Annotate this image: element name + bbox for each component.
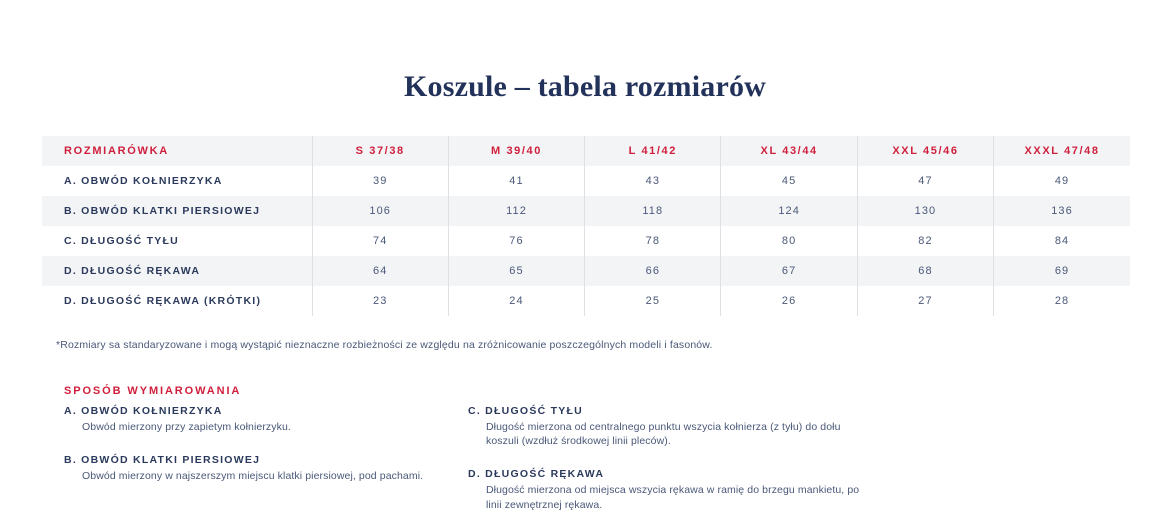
measurement-desc-sleeve: Długość mierzona od miejsca wszycia ręka… <box>468 483 872 511</box>
cell-back-xxl: 82 <box>857 226 993 256</box>
cell-sleeve-m: 65 <box>448 256 584 286</box>
size-table-footnote: *Rozmiary sa standaryzowane i mogą wystą… <box>56 339 1056 351</box>
measurement-item-collar: A. OBWÓD KOŁNIERZYKA Obwód mierzony przy… <box>64 405 468 434</box>
cell-sleeve-s: 64 <box>312 256 448 286</box>
cell-sleeve-xxxl: 69 <box>994 256 1130 286</box>
cell-sleeve-xl: 67 <box>721 256 857 286</box>
measurement-title-collar: A. OBWÓD KOŁNIERZYKA <box>64 405 468 417</box>
cell-collar-s: 39 <box>312 166 448 196</box>
measurement-item-back-length: C. DŁUGOŚĆ TYŁU Długość mierzona od cent… <box>468 405 872 448</box>
table-body: A. OBWÓD KOŁNIERZYKA 39 41 43 45 47 49 B… <box>42 166 1130 316</box>
cell-chest-m: 112 <box>448 196 584 226</box>
cell-sleeve-short-l: 25 <box>585 286 721 316</box>
row-label-sleeve-long: D. DŁUGOŚĆ RĘKAWA <box>42 256 312 286</box>
cell-sleeve-short-s: 23 <box>312 286 448 316</box>
measurement-title-chest: B. OBWÓD KLATKI PIERSIOWEJ <box>64 454 468 466</box>
row-label-collar: A. OBWÓD KOŁNIERZYKA <box>42 166 312 196</box>
cell-back-l: 78 <box>585 226 721 256</box>
measurement-desc-chest: Obwód mierzony w najszerszym miejscu kla… <box>64 469 468 483</box>
table-row: D. DŁUGOŚĆ RĘKAWA 64 65 66 67 68 69 <box>42 256 1130 286</box>
cell-back-xxxl: 84 <box>994 226 1130 256</box>
cell-sleeve-xxl: 68 <box>857 256 993 286</box>
cell-back-xl: 80 <box>721 226 857 256</box>
cell-sleeve-short-m: 24 <box>448 286 584 316</box>
measurement-desc-collar: Obwód mierzony przy zapietym kołnierzyku… <box>64 420 468 434</box>
row-label-sleeve-short: D. DŁUGOŚĆ RĘKAWA (KRÓTKI) <box>42 286 312 316</box>
cell-collar-xl: 45 <box>721 166 857 196</box>
cell-collar-xxxl: 49 <box>994 166 1130 196</box>
cell-chest-l: 118 <box>585 196 721 226</box>
cell-sleeve-l: 66 <box>585 256 721 286</box>
measurement-item-sleeve: D. DŁUGOŚĆ RĘKAWA Długość mierzona od mi… <box>468 468 872 511</box>
cell-chest-xl: 124 <box>721 196 857 226</box>
column-header-xxxl: XXXL 47/48 <box>994 136 1130 166</box>
cell-sleeve-short-xxxl: 28 <box>994 286 1130 316</box>
cell-back-s: 74 <box>312 226 448 256</box>
cell-collar-m: 41 <box>448 166 584 196</box>
cell-sleeve-short-xl: 26 <box>721 286 857 316</box>
measurement-item-chest: B. OBWÓD KLATKI PIERSIOWEJ Obwód mierzon… <box>64 454 468 483</box>
cell-chest-xxxl: 136 <box>994 196 1130 226</box>
measurement-section-heading: SPOSÓB WYMIAROWANIA <box>64 385 241 397</box>
table-row: A. OBWÓD KOŁNIERZYKA 39 41 43 45 47 49 <box>42 166 1130 196</box>
measurement-title-back-length: C. DŁUGOŚĆ TYŁU <box>468 405 872 417</box>
cell-back-m: 76 <box>448 226 584 256</box>
column-header-m: M 39/40 <box>448 136 584 166</box>
table-header: ROZMIARÓWKA S 37/38 M 39/40 L 41/42 XL 4… <box>42 136 1130 166</box>
column-header-s: S 37/38 <box>312 136 448 166</box>
table-row: C. DŁUGOŚĆ TYŁU 74 76 78 80 82 84 <box>42 226 1130 256</box>
measurement-column-left: A. OBWÓD KOŁNIERZYKA Obwód mierzony przy… <box>64 405 468 532</box>
column-header-xxl: XXL 45/46 <box>857 136 993 166</box>
column-header-l: L 41/42 <box>585 136 721 166</box>
measurement-desc-back-length: Długość mierzona od centralnego punktu w… <box>468 420 872 448</box>
cell-chest-xxl: 130 <box>857 196 993 226</box>
table-header-row: ROZMIARÓWKA S 37/38 M 39/40 L 41/42 XL 4… <box>42 136 1130 166</box>
size-chart-table: ROZMIARÓWKA S 37/38 M 39/40 L 41/42 XL 4… <box>42 136 1130 316</box>
table-row: B. OBWÓD KLATKI PIERSIOWEJ 106 112 118 1… <box>42 196 1130 226</box>
cell-collar-xxl: 47 <box>857 166 993 196</box>
measurement-instructions: A. OBWÓD KOŁNIERZYKA Obwód mierzony przy… <box>64 405 1114 532</box>
cell-collar-l: 43 <box>585 166 721 196</box>
column-header-xl: XL 43/44 <box>721 136 857 166</box>
page-title: Koszule – tabela rozmiarów <box>0 70 1170 104</box>
size-table-container: ROZMIARÓWKA S 37/38 M 39/40 L 41/42 XL 4… <box>42 136 1130 316</box>
table-row: D. DŁUGOŚĆ RĘKAWA (KRÓTKI) 23 24 25 26 2… <box>42 286 1130 316</box>
measurement-title-sleeve: D. DŁUGOŚĆ RĘKAWA <box>468 468 872 480</box>
column-header-rozmiarowka: ROZMIARÓWKA <box>42 136 312 166</box>
row-label-chest: B. OBWÓD KLATKI PIERSIOWEJ <box>42 196 312 226</box>
cell-chest-s: 106 <box>312 196 448 226</box>
row-label-back-length: C. DŁUGOŚĆ TYŁU <box>42 226 312 256</box>
measurement-column-right: C. DŁUGOŚĆ TYŁU Długość mierzona od cent… <box>468 405 872 532</box>
cell-sleeve-short-xxl: 27 <box>857 286 993 316</box>
